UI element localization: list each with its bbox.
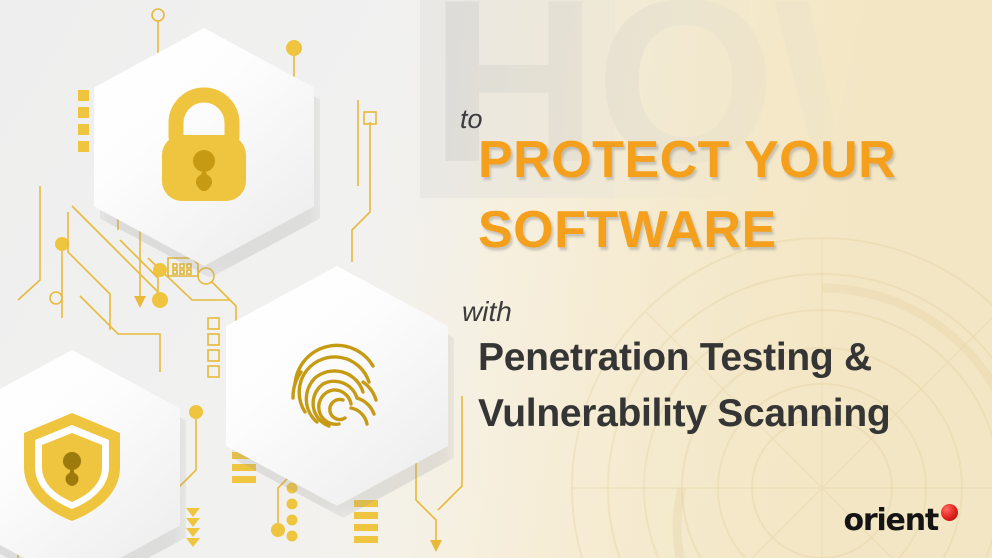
logo-red-dot-icon: [941, 504, 958, 521]
logo-wordmark: orient: [843, 503, 938, 538]
banner-canvas: HOW: [0, 0, 992, 558]
subheadline-line-1: Penetration Testing &: [478, 338, 872, 377]
padlock-icon: [150, 87, 258, 207]
kicker-with: with: [462, 296, 512, 328]
headline-line-2: SOFTWARE: [478, 204, 777, 256]
subheadline-line-2: Vulnerability Scanning: [478, 394, 890, 433]
fingerprint-icon: [277, 326, 397, 446]
orient-logo[interactable]: orient: [843, 503, 958, 538]
headline-line-1: PROTECT YOUR: [478, 134, 896, 186]
copy-block: to PROTECT YOUR SOFTWARE with Penetratio…: [448, 0, 992, 558]
shield-lock-icon: [20, 409, 124, 525]
